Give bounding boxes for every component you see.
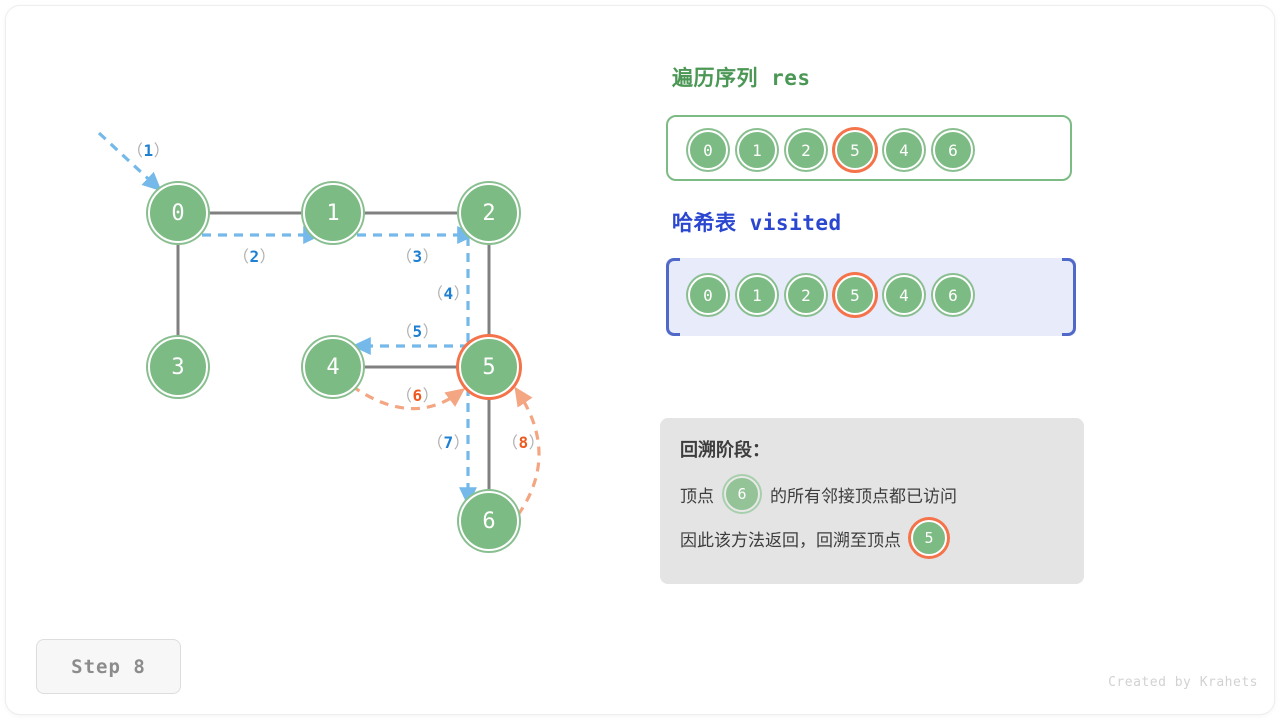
step-number: 8 — [519, 433, 529, 452]
note-line-2-prefix: 因此该方法返回，回溯至顶点 — [680, 526, 901, 551]
res-chip[interactable]: 6 — [933, 130, 973, 170]
paren-open: （ — [396, 322, 413, 341]
step-order-label-8: （8） — [502, 429, 545, 453]
visited-chip[interactable]: 6 — [933, 275, 973, 315]
explanation-note-box: 回溯阶段： 顶点 6 的所有邻接顶点都已访问 因此该方法返回，回溯至顶点 5 — [660, 418, 1084, 584]
note-line-1: 顶点 6 的所有邻接顶点都已访问 — [680, 476, 1064, 512]
visited-container: 0 1 2 5 4 6 — [666, 258, 1076, 336]
graph-node-label: 6 — [482, 509, 495, 534]
visited-section-title: 哈希表 visited — [672, 207, 842, 237]
paren-close: ） — [423, 247, 440, 266]
step-order-label-1: （1） — [127, 137, 170, 161]
screenshot-root: 0 1 2 3 4 5 6 （1） （2） （3） （4） — [0, 0, 1280, 720]
res-chip-highlighted[interactable]: 5 — [835, 130, 875, 170]
note-line-1-suffix: 的所有邻接顶点都已访问 — [770, 482, 957, 507]
visited-chip-label: 5 — [850, 286, 860, 305]
res-chip-label: 0 — [703, 141, 713, 160]
paren-close: ） — [260, 247, 277, 266]
paren-close: ） — [454, 433, 471, 452]
step-order-label-6: （6） — [396, 382, 439, 406]
visited-chip[interactable]: 0 — [688, 275, 728, 315]
graph-node-3[interactable]: 3 — [148, 337, 208, 397]
graph-node-label: 4 — [326, 355, 339, 380]
graph-node-1[interactable]: 1 — [303, 183, 363, 243]
visited-chip-label: 6 — [948, 286, 958, 305]
graph-node-4[interactable]: 4 — [303, 337, 363, 397]
visited-chip-row: 0 1 2 5 4 6 — [688, 275, 973, 315]
paren-open: （ — [427, 433, 444, 452]
res-chip[interactable]: 1 — [737, 130, 777, 170]
graph-canvas — [0, 0, 640, 620]
note-chip-label: 6 — [737, 485, 746, 503]
res-section-title: 遍历序列 res — [672, 62, 811, 92]
paren-open: （ — [502, 433, 519, 452]
step-order-label-5: （5） — [396, 318, 439, 342]
graph-node-label: 0 — [171, 201, 184, 226]
visited-chip[interactable]: 4 — [884, 275, 924, 315]
res-chip-label: 4 — [899, 141, 909, 160]
visited-chip-label: 2 — [801, 286, 811, 305]
paren-open: （ — [127, 141, 144, 160]
res-chip-label: 1 — [752, 141, 762, 160]
step-badge: Step 8 — [36, 639, 181, 694]
visited-chip-label: 1 — [752, 286, 762, 305]
graph-node-0[interactable]: 0 — [148, 183, 208, 243]
paren-open: （ — [396, 386, 413, 405]
res-chip-label: 5 — [850, 141, 860, 160]
graph-panel: 0 1 2 3 4 5 6 （1） （2） （3） （4） — [0, 0, 640, 620]
res-chip[interactable]: 4 — [884, 130, 924, 170]
paren-open: （ — [396, 247, 413, 266]
paren-close: ） — [454, 284, 471, 303]
visited-chip[interactable]: 2 — [786, 275, 826, 315]
step-number: 6 — [413, 386, 423, 405]
paren-close: ） — [529, 433, 546, 452]
note-vertex-chip-5: 5 — [911, 520, 947, 556]
res-chip-label: 6 — [948, 141, 958, 160]
paren-close: ） — [154, 141, 171, 160]
visited-chip-label: 0 — [703, 286, 713, 305]
paren-open: （ — [427, 284, 444, 303]
res-chip-row: 0 1 2 5 4 6 — [688, 130, 973, 170]
res-chip[interactable]: 2 — [786, 130, 826, 170]
res-chip[interactable]: 0 — [688, 130, 728, 170]
step-order-label-4: （4） — [427, 280, 470, 304]
paren-close: ） — [423, 322, 440, 341]
paren-open: （ — [233, 247, 250, 266]
graph-node-5[interactable]: 5 — [459, 337, 519, 397]
step-number: 4 — [444, 284, 454, 303]
credit-text: Created by Krahets — [1108, 675, 1258, 690]
note-heading: 回溯阶段： — [680, 436, 1064, 462]
note-line-2: 因此该方法返回，回溯至顶点 5 — [680, 520, 1064, 556]
step-number: 1 — [144, 141, 154, 160]
visited-chip-highlighted[interactable]: 5 — [835, 275, 875, 315]
note-vertex-chip-6: 6 — [724, 476, 760, 512]
step-number: 5 — [413, 322, 423, 341]
graph-node-6[interactable]: 6 — [459, 491, 519, 551]
right-panel: 遍历序列 res 0 1 2 5 4 6 — [660, 0, 1260, 720]
step-order-label-7: （7） — [427, 429, 470, 453]
step-number: 2 — [250, 247, 260, 266]
step-number: 7 — [444, 433, 454, 452]
graph-node-label: 1 — [326, 201, 339, 226]
forward-traversal-arrows — [99, 133, 470, 500]
res-container: 0 1 2 5 4 6 — [666, 115, 1072, 181]
paren-close: ） — [423, 386, 440, 405]
step-number: 3 — [413, 247, 423, 266]
note-chip-label: 5 — [924, 529, 933, 547]
visited-chip-label: 4 — [899, 286, 909, 305]
graph-node-2[interactable]: 2 — [459, 183, 519, 243]
bracket-left-icon — [666, 258, 680, 336]
graph-node-label: 2 — [482, 201, 495, 226]
note-line-1-prefix: 顶点 — [680, 482, 714, 507]
visited-chip[interactable]: 1 — [737, 275, 777, 315]
step-order-label-3: （3） — [396, 243, 439, 267]
bracket-right-icon — [1062, 258, 1076, 336]
res-chip-label: 2 — [801, 141, 811, 160]
step-order-label-2: （2） — [233, 243, 276, 267]
graph-node-label: 5 — [482, 355, 495, 380]
graph-node-label: 3 — [171, 355, 184, 380]
